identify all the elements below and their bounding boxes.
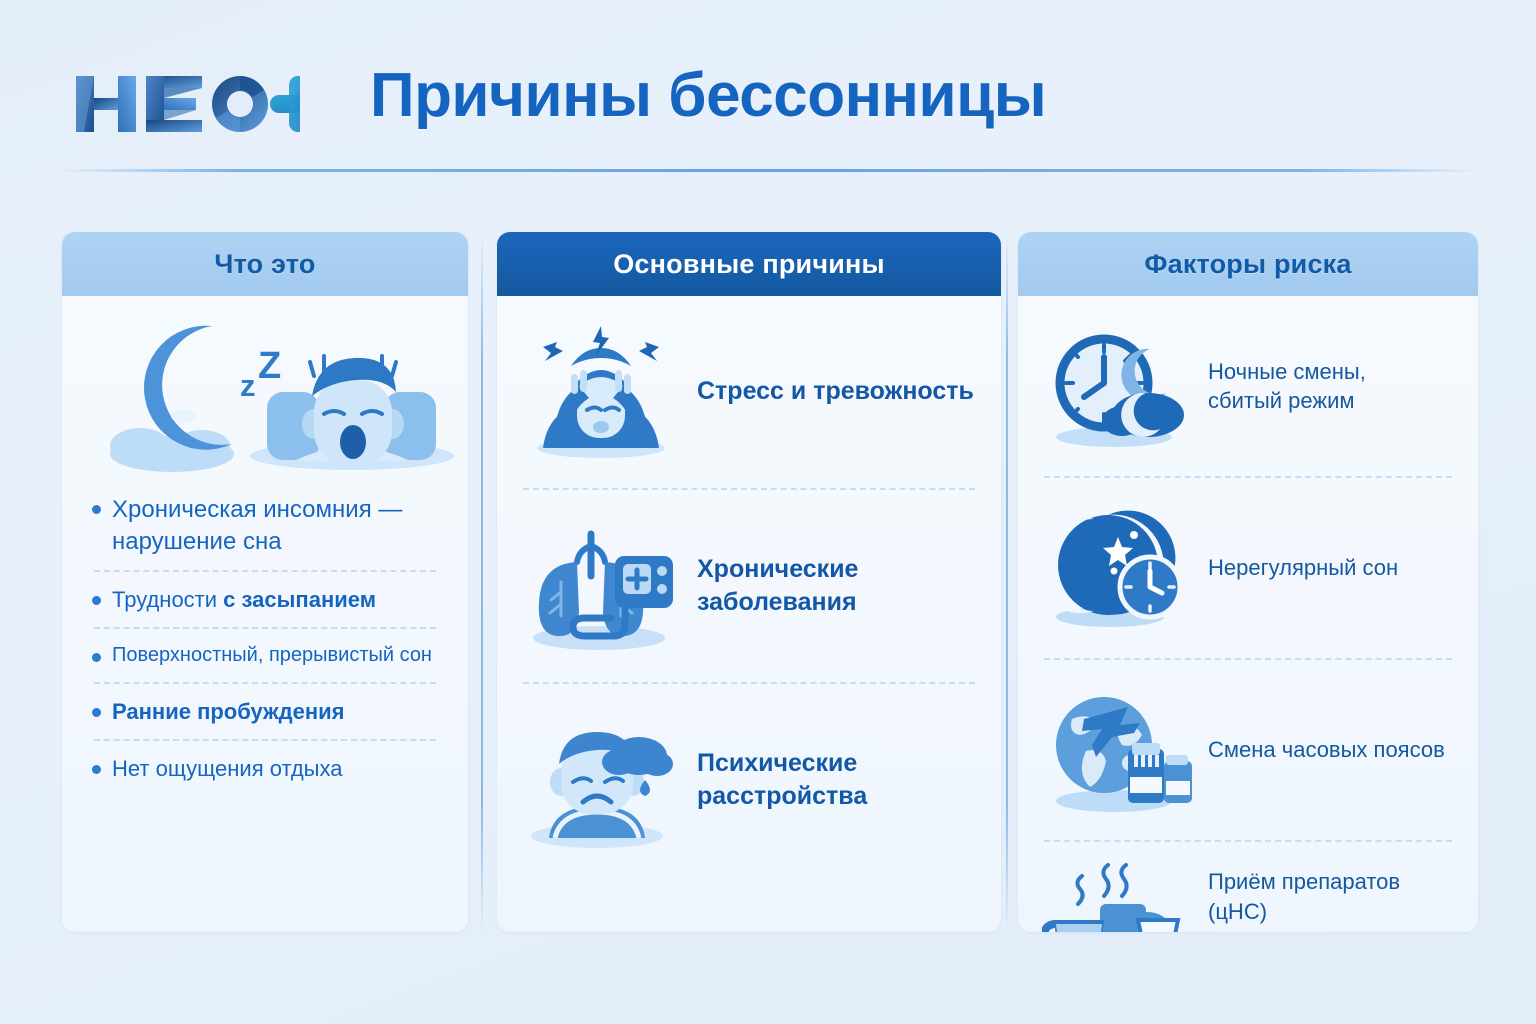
bullet-dot xyxy=(92,505,101,514)
column-main-causes: Основные причины xyxy=(497,232,1001,932)
list-item-label: Хроническая инсомния —нарушение сна xyxy=(112,494,402,557)
list-item-label: Поверхностный, прерывистый сон xyxy=(112,642,432,668)
bullet-dot xyxy=(92,708,101,717)
clock-moon-icon xyxy=(1042,321,1192,451)
bullet-dot xyxy=(92,596,101,605)
hero-illustration: z Z xyxy=(62,296,468,481)
sad-person-raincloud-icon xyxy=(521,710,681,850)
list-divider xyxy=(94,570,436,572)
column-title: Что это xyxy=(214,249,315,280)
column-header-what-is-it: Что это xyxy=(62,232,468,296)
column-separator-1 xyxy=(481,232,483,932)
risk-row: Нерегулярный сон xyxy=(1018,478,1478,658)
list-item: Хроническая инсомния —нарушение сна xyxy=(84,481,446,570)
list-item: Поверхностный, прерывистый сон xyxy=(84,629,446,681)
risk-row: Смена часовых поясов xyxy=(1018,660,1478,840)
cause-row: Стресс и тревожность xyxy=(497,296,1001,488)
list-item: Ранние пробуждения xyxy=(84,684,446,739)
list-item: Нет ощущения отдыха xyxy=(84,741,446,796)
column-separator-2 xyxy=(1006,232,1008,932)
cause-label: Хронические заболевания xyxy=(697,553,977,620)
list-divider xyxy=(94,682,436,684)
bullet-dot xyxy=(92,765,101,774)
cause-label: Стресс и тревожность xyxy=(697,375,974,409)
column-title: Основные причины xyxy=(613,249,885,280)
crescent-stars-clock-icon xyxy=(1042,503,1192,633)
list-divider xyxy=(94,627,436,629)
list-divider xyxy=(94,739,436,741)
sleeping-moon-icon: z Z xyxy=(110,326,281,472)
risk-label: Смена часовых поясов xyxy=(1208,735,1445,764)
cause-row: Хронические заболевания xyxy=(497,490,1001,682)
columns-container: Что это z xyxy=(0,232,1536,932)
neo-plus-logo xyxy=(72,68,300,140)
svg-text:Z: Z xyxy=(258,345,281,387)
infographic-root: Причины бессонницы Что это xyxy=(0,0,1536,1024)
column-header-risk-factors: Факторы риска xyxy=(1018,232,1478,296)
column-body-risk-factors: Ночные смены,сбитый режим xyxy=(1018,296,1478,932)
column-what-is-it: Что это z xyxy=(62,232,468,932)
page-header: Причины бессонницы xyxy=(0,0,1536,172)
cause-label: Психические расстройства xyxy=(697,747,977,814)
column-body-what-is-it: z Z xyxy=(62,296,468,932)
cause-row: Психические расстройства xyxy=(497,684,1001,876)
risk-row: Ночные смены,сбитый режим xyxy=(1018,296,1478,476)
list-item-label: Ранние пробуждения xyxy=(112,697,344,726)
column-header-main-causes: Основные причины xyxy=(497,232,1001,296)
lungs-blood-pressure-icon xyxy=(521,516,681,656)
bullet-dot xyxy=(92,653,101,662)
column-title: Факторы риска xyxy=(1144,249,1351,280)
risk-label: Ночные смены,сбитый режим xyxy=(1208,357,1366,416)
page-title: Причины бессонницы xyxy=(370,60,1046,131)
risk-label: Нерегулярный сон xyxy=(1208,553,1398,582)
risk-row: Приём препаратов (цНС)Кофеин, никотин,ал… xyxy=(1018,842,1478,932)
definition-list: Хроническая инсомния —нарушение сна Труд… xyxy=(62,481,468,796)
list-item-label: Трудности с засыпанием xyxy=(112,585,376,614)
globe-plane-pills-icon xyxy=(1042,685,1192,815)
list-item: Трудности с засыпанием xyxy=(84,572,446,627)
coffee-wine-pills-icon xyxy=(1042,862,1192,932)
list-item-label: Нет ощущения отдыха xyxy=(112,754,342,783)
risk-label: Приём препаратов (цНС)Кофеин, никотин,ал… xyxy=(1208,867,1454,932)
column-risk-factors: Факторы риска xyxy=(1018,232,1478,932)
stressed-head-icon xyxy=(521,322,681,462)
header-divider xyxy=(60,169,1476,172)
column-body-main-causes: Стресс и тревожность xyxy=(497,296,1001,932)
svg-text:z: z xyxy=(240,368,256,403)
